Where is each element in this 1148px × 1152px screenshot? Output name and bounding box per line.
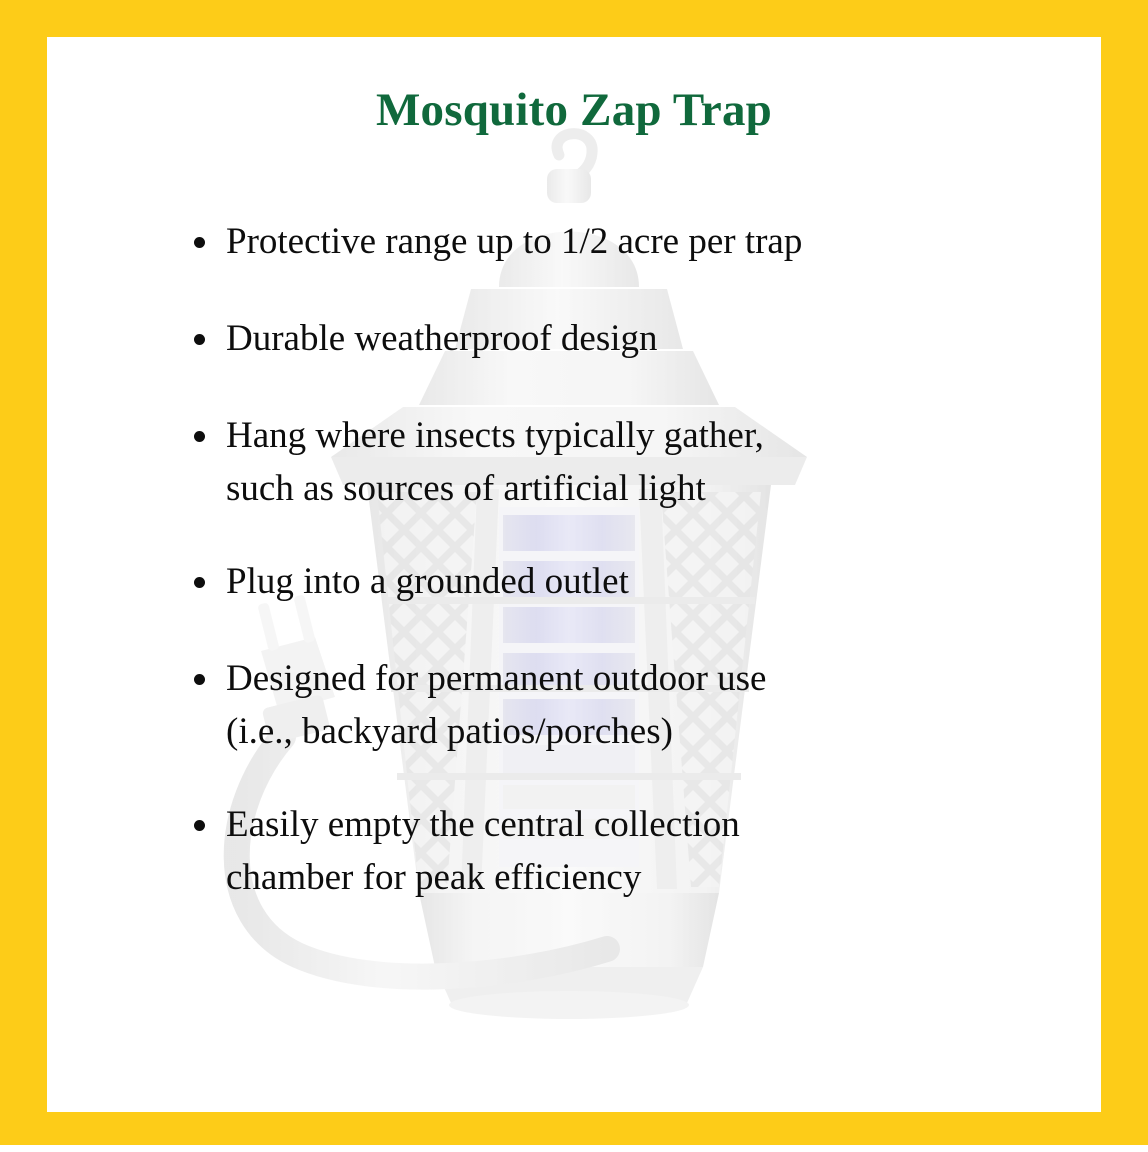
bullet-dot-icon <box>194 820 205 831</box>
list-item-text: Plug into a grounded outlet <box>226 555 1011 608</box>
list-item: Designed for permanent outdoor use (i.e.… <box>191 652 1011 758</box>
list-item-text: Easily empty the central collection cham… <box>226 798 1011 904</box>
list-item-text: Durable weatherproof design <box>226 312 1011 365</box>
poster-canvas: Mosquito Zap Trap Protective range up to… <box>0 0 1148 1152</box>
bullet-dot-icon <box>194 334 205 345</box>
page-title: Mosquito Zap Trap <box>47 82 1101 138</box>
list-item-text: Protective range up to 1/2 acre per trap <box>226 215 1011 268</box>
frame-border-bottom <box>0 1112 1148 1145</box>
feature-list: Protective range up to 1/2 acre per trap… <box>191 215 1011 944</box>
bullet-dot-icon <box>194 577 205 588</box>
list-item: Easily empty the central collection cham… <box>191 798 1011 904</box>
frame-border-right <box>1101 0 1148 1145</box>
bullet-dot-icon <box>194 237 205 248</box>
list-item: Plug into a grounded outlet <box>191 555 1011 608</box>
list-item: Hang where insects typically gather, suc… <box>191 409 1011 515</box>
list-item-text: Designed for permanent outdoor use (i.e.… <box>226 652 1011 758</box>
list-item: Durable weatherproof design <box>191 312 1011 365</box>
frame-border-top <box>0 0 1148 37</box>
bullet-dot-icon <box>194 674 205 685</box>
bullet-dot-icon <box>194 431 205 442</box>
content-card: Mosquito Zap Trap Protective range up to… <box>47 37 1101 1112</box>
list-item-text: Hang where insects typically gather, suc… <box>226 409 1011 515</box>
frame-border-left <box>0 0 47 1145</box>
content-layer: Mosquito Zap Trap Protective range up to… <box>47 37 1101 1112</box>
list-item: Protective range up to 1/2 acre per trap <box>191 215 1011 268</box>
